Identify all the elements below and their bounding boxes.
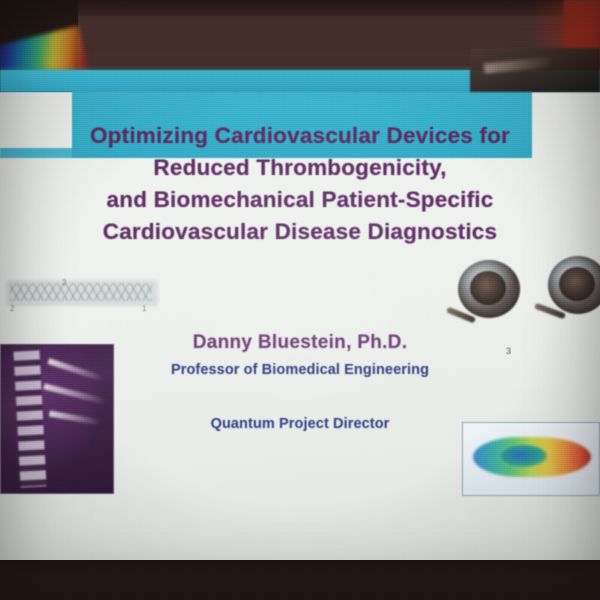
- bottom-photo-highlight: [484, 56, 555, 73]
- presenter-block: Danny Bluestein, Ph.D. Professor of Biom…: [0, 332, 600, 432]
- slide-title-line-4: Cardiovascular Disease Diagnostics: [0, 216, 600, 248]
- photo-of-presentation-slide: Optimizing Cardiovascular Devices for Re…: [0, 0, 600, 600]
- slide-title-line-3: and Biomechanical Patient-Specific: [0, 184, 600, 216]
- heart-valve-photo-right: [548, 256, 600, 314]
- stent-mesh-texture: [10, 283, 152, 301]
- valve-core-left: [470, 271, 506, 305]
- presenter-name: Danny Bluestein, Ph.D.: [0, 332, 600, 354]
- bottom-photo-strip: [470, 48, 600, 92]
- slide-title-line-1: Optimizing Cardiovascular Devices for: [0, 120, 600, 152]
- cfd-core-region: [501, 445, 547, 467]
- stent-label-3: 3: [62, 278, 66, 287]
- cfd-colormap-figure: [462, 422, 600, 496]
- wall-top-strip: [78, 0, 564, 16]
- valve-stem-right: [534, 303, 566, 320]
- presenter-role: Professor of Biomedical Engineering: [0, 362, 600, 378]
- valve-stem-left: [446, 307, 476, 324]
- stent-label-1: 1: [142, 304, 146, 313]
- slide-title: Optimizing Cardiovascular Devices for Re…: [0, 120, 600, 248]
- stent-label-2: 2: [10, 304, 14, 313]
- heart-valve-photo-left: [458, 260, 520, 318]
- slide-title-line-2: Reduced Thrombogenicity,: [0, 152, 600, 184]
- valve-core-right: [559, 267, 595, 301]
- projection-screen: Optimizing Cardiovascular Devices for Re…: [0, 92, 600, 560]
